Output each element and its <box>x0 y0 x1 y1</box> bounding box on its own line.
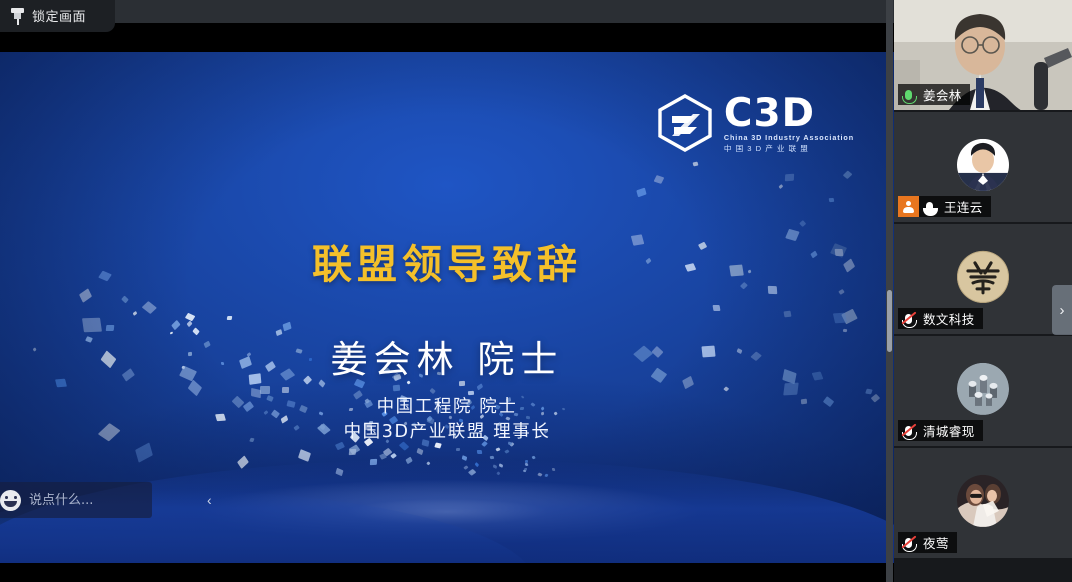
window-topbar <box>0 0 894 23</box>
chat-message-input[interactable] <box>21 493 207 508</box>
participant-name: 清城睿现 <box>919 421 975 440</box>
chat-collapse-button[interactable]: ‹ <box>207 492 212 508</box>
slide-subtitle-line-1: 中国工程院 院士 <box>0 395 894 420</box>
c3d-logo: C3D China 3D Industry Association 中国3D产业… <box>657 94 854 153</box>
logo-wordmark: C3D <box>724 94 854 133</box>
participant-tile[interactable]: 数文科技 <box>894 224 1072 334</box>
participant-tile[interactable]: 夜莺 <box>894 448 1072 558</box>
lock-screen-label: 锁定画面 <box>32 10 86 23</box>
logo-english-name: China 3D Industry Association <box>724 134 854 143</box>
logo-chinese-name: 中国3D产业联盟 <box>724 144 854 153</box>
participant-tile[interactable]: 清城睿现 <box>894 336 1072 446</box>
slide-title: 联盟领导致辞 <box>0 232 894 290</box>
microphone-muted-icon <box>898 538 919 548</box>
participant-label: 姜会林 <box>898 84 970 105</box>
participant-name: 夜莺 <box>919 533 949 552</box>
avatar <box>957 139 1009 191</box>
avatar <box>957 363 1009 415</box>
participant-tile[interactable]: 姜会林 <box>894 0 1072 110</box>
microphone-icon <box>898 90 919 100</box>
host-badge-icon <box>898 196 919 217</box>
participant-name: 姜会林 <box>919 85 962 104</box>
participant-label: 夜莺 <box>898 532 957 553</box>
avatar <box>957 251 1009 303</box>
chevron-left-icon: ‹ <box>207 492 212 508</box>
pin-icon <box>10 8 25 25</box>
participant-name: 数文科技 <box>919 309 975 328</box>
sidebar-scrollbar[interactable] <box>886 0 893 582</box>
microphone-icon <box>919 202 940 212</box>
emoji-picker-button[interactable] <box>0 490 21 511</box>
c3d-logo-mark <box>657 94 713 152</box>
sidebar-scrollbar-thumb[interactable] <box>887 290 892 352</box>
participants-sidebar: 姜会林王连云数文科技清城睿现夜莺 <box>894 0 1072 582</box>
participant-name: 王连云 <box>940 197 983 216</box>
microphone-muted-icon <box>898 314 919 324</box>
participant-label: 清城睿现 <box>898 420 983 441</box>
chevron-right-icon: › <box>1060 303 1065 318</box>
microphone-muted-icon <box>898 426 919 436</box>
participant-label: 王连云 <box>898 196 991 217</box>
slide-subtitle: 中国工程院 院士 中国3D产业联盟 理事长 <box>0 395 894 446</box>
participant-tiles: 姜会林王连云数文科技清城睿现夜莺 <box>894 0 1072 558</box>
slide-subtitle-line-2: 中国3D产业联盟 理事长 <box>0 420 894 445</box>
emoji-smiley-icon <box>0 490 21 511</box>
meeting-window: C3D China 3D Industry Association 中国3D产业… <box>0 0 1072 582</box>
chat-input-bar: ‹ <box>0 482 152 518</box>
stage-next-handle[interactable]: › <box>1052 285 1072 335</box>
slide-speaker-name: 姜会林 院士 <box>0 329 894 383</box>
lock-screen-button[interactable]: 锁定画面 <box>0 0 115 32</box>
participant-tile[interactable]: 王连云 <box>894 112 1072 222</box>
participant-label: 数文科技 <box>898 308 983 329</box>
avatar <box>957 475 1009 527</box>
